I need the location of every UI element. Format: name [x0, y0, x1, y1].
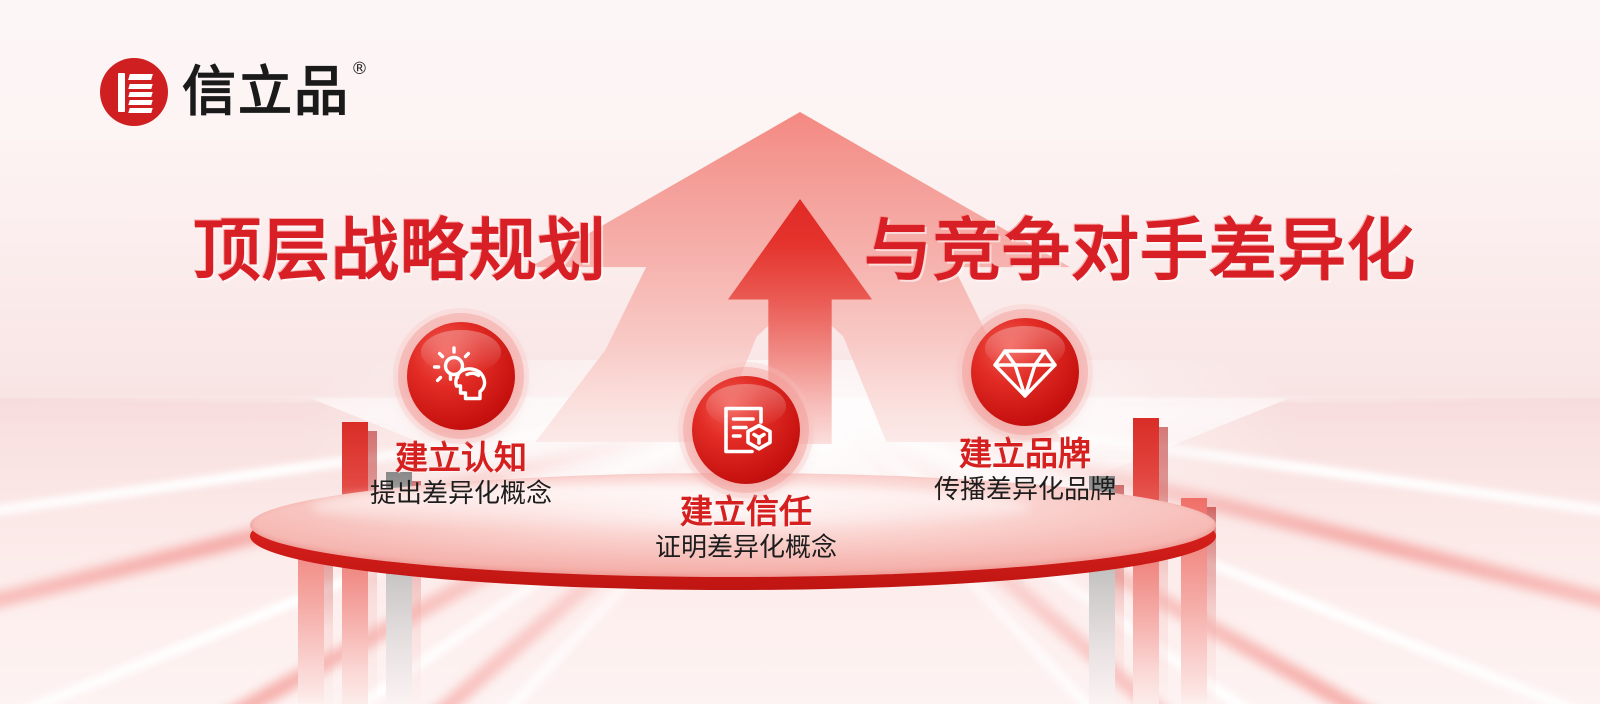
poster-canvas: 信立品 ® 顶层战略规划 与竞争对手差异化 建立认知 提出差异化概念: [0, 0, 1600, 704]
pillar-brand[interactable]: 建立品牌 传播差异化品牌: [875, 318, 1175, 506]
pillar-cognition[interactable]: 建立认知 提出差异化概念: [311, 322, 611, 510]
pillar-title: 建立品牌: [875, 436, 1175, 472]
brand-name: 信立品 ®: [182, 65, 350, 119]
brand-name-text: 信立品: [182, 60, 350, 123]
pillar-subtitle: 提出差异化概念: [311, 480, 611, 510]
head-lightbulb-icon: [407, 322, 515, 430]
registered-mark-icon: ®: [351, 61, 370, 78]
document-shield-icon: [692, 376, 800, 484]
headline-right: 与竞争对手差异化: [864, 218, 1416, 286]
pillar-title: 建立信任: [596, 494, 896, 530]
diamond-icon: [971, 318, 1079, 426]
pillar-subtitle: 证明差异化概念: [596, 534, 896, 564]
brand-logo[interactable]: 信立品 ®: [100, 58, 350, 126]
pillar-subtitle: 传播差异化品牌: [875, 476, 1175, 506]
headline-left: 顶层战略规划: [193, 218, 607, 286]
pillar-trust[interactable]: 建立信任 证明差异化概念: [596, 376, 896, 564]
pillar-title: 建立认知: [311, 440, 611, 476]
xin-seal-icon: [100, 58, 168, 126]
